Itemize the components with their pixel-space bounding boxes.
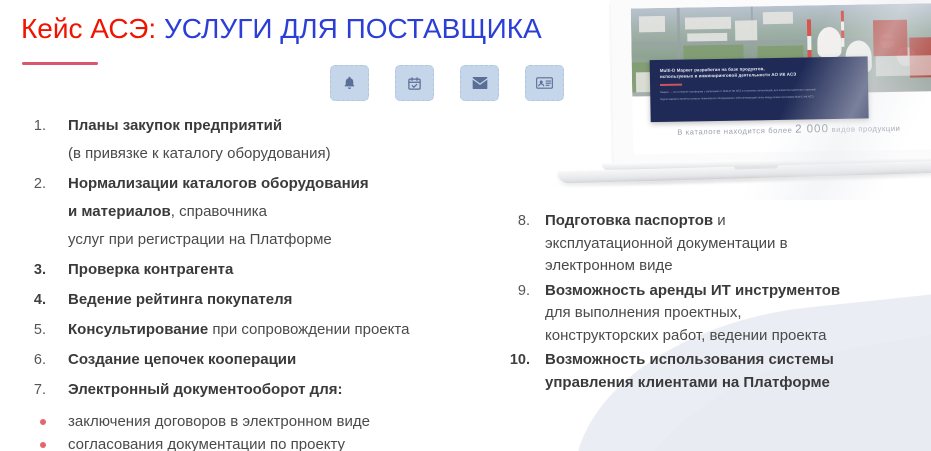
catalog-suffix: видов продукции [829, 124, 901, 134]
list-item-line: конструкторских работ, ведении проекта [545, 325, 840, 348]
text-normal: для выполнения проектных, [545, 304, 742, 321]
text-strong: Консультирование [68, 321, 208, 338]
list-item-line: и материалов, справочника [68, 198, 369, 226]
envelope-icon-button[interactable] [460, 65, 499, 101]
list-item: 2.Нормализации каталогов оборудованияи м… [0, 170, 500, 254]
list-item-number: 3. [0, 256, 46, 284]
title-underline-rule [22, 62, 98, 65]
list-item-body: Возможность аренды ИТ инструментовдля вы… [530, 280, 840, 348]
laptop-screen: Multi-D Маркет разработан на базе продук… [631, 3, 931, 154]
services-list-right: 8.Подготовка паспортов иэксплуатационной… [470, 210, 890, 396]
list-item-line: Возможность использования системы [545, 349, 834, 372]
icon-row [330, 65, 564, 101]
list-item-body: Возможность использования системыуправле… [530, 349, 834, 394]
text-normal: электронном виде [545, 257, 673, 274]
list-item: 8.Подготовка паспортов иэксплуатационной… [470, 210, 890, 278]
screen-overlay-card: Multi-D Маркет разработан на базе продук… [650, 56, 869, 122]
list-item-number: 10. [470, 349, 530, 372]
list-item: 10.Возможность использования системыупра… [470, 349, 890, 394]
catalog-count-line: В каталоге находится более 2 000 видов п… [633, 121, 931, 138]
list-item-number: 6. [0, 346, 46, 374]
list-item-line: Возможность аренды ИТ инструментов [545, 280, 840, 303]
overlay-rule [660, 84, 682, 86]
list-item-number: 2. [0, 170, 46, 198]
text-normal: (в привязке к каталогу оборудования) [68, 145, 331, 162]
list-item-body: Нормализации каталогов оборудованияи мат… [46, 170, 369, 254]
bullet-item: заключения договоров в электронном виде [0, 410, 500, 433]
list-item-body: Ведение рейтинга покупателя [46, 286, 292, 314]
list-item-line: услуг при регистрации на Платформе [68, 226, 369, 254]
laptop-mockup: Multi-D Маркет разработан на базе продук… [604, 0, 931, 194]
text-strong: Возможность аренды ИТ инструментов [545, 282, 840, 299]
list-item-line: Нормализации каталогов оборудования [68, 170, 369, 198]
list-item-body: Проверка контрагента [46, 256, 233, 284]
envelope-icon [472, 77, 488, 89]
id-card-icon [536, 77, 553, 89]
overlay-paragraph-1: Маркет — это интернет-платформа с сервис… [660, 87, 858, 94]
list-item-number: 1. [0, 112, 46, 140]
list-item-number: 4. [0, 286, 46, 314]
page-title-blue: УСЛУГИ ДЛЯ ПОСТАВЩИКА [156, 13, 542, 44]
list-item-line: эксплуатационной документации в [545, 233, 788, 256]
text-normal: услуг при регистрации на Платформе [68, 231, 332, 248]
bullet-body: согласования документации по проекту [46, 433, 345, 451]
calendar-check-icon-button[interactable] [395, 65, 434, 101]
bullet-dot-icon [0, 433, 46, 451]
catalog-prefix: В каталоге находится более [677, 126, 795, 137]
list-item-body: Консультирование при сопровождении проек… [46, 316, 409, 344]
text-strong: и материалов [68, 203, 171, 220]
slide: Кейс АСЭ: УСЛУГИ ДЛЯ ПОСТАВЩИКА [0, 0, 931, 451]
list-item-number: 5. [0, 316, 46, 344]
laptop-lid: Multi-D Маркет разработан на базе продук… [611, 0, 931, 169]
text-normal: , справочника [171, 203, 267, 220]
text-normal: при сопровождении проекта [208, 321, 409, 338]
list-item-body: Подготовка паспортов иэксплуатационной д… [530, 210, 788, 278]
services-list-left: 1.Планы закупок предприятий(в привязке к… [0, 112, 500, 451]
list-item-line: управления клиентами на Платформе [545, 372, 834, 395]
text-strong: Электронный документооборот для: [68, 381, 342, 398]
list-item: 7.Электронный документооборот для: [0, 376, 500, 404]
list-item-body: Создание цепочек кооперации [46, 346, 296, 374]
text-strong: Создание цепочек кооперации [68, 351, 296, 368]
bullet-dot-icon [0, 410, 46, 433]
bullet-text: согласования документации по проекту [68, 433, 345, 451]
list-item-line: (в привязке к каталогу оборудования) [68, 140, 331, 168]
text-strong: Нормализации каталогов оборудования [68, 175, 369, 192]
bullet-body: заключения договоров в электронном виде [46, 410, 370, 433]
list-item: 9.Возможность аренды ИТ инструментовдля … [470, 280, 890, 348]
list-item-body: Планы закупок предприятий(в привязке к к… [46, 112, 331, 168]
bell-icon-button[interactable] [330, 65, 369, 101]
catalog-count: 2 000 [795, 123, 829, 136]
page-title-red: Кейс АСЭ: [21, 13, 156, 44]
list-item-line: Ведение рейтинга покупателя [68, 286, 292, 314]
list-item-number: 8. [470, 210, 530, 233]
list-item-line: Проверка контрагента [68, 256, 233, 284]
list-item-line: электронном виде [545, 255, 788, 278]
list-item-line: Подготовка паспортов и [545, 210, 788, 233]
list-item-number: 7. [0, 376, 46, 404]
list-item: 1.Планы закупок предприятий(в привязке к… [0, 112, 500, 168]
list-item: 6.Создание цепочек кооперации [0, 346, 500, 374]
id-card-icon-button[interactable] [525, 65, 564, 101]
list-item-line: для выполнения проектных, [545, 302, 840, 325]
text-normal: конструкторских работ, ведении проекта [545, 327, 827, 344]
calendar-check-icon [407, 76, 422, 91]
text-normal: и [713, 212, 726, 229]
text-strong: Планы закупок предприятий [68, 117, 282, 134]
bell-icon [342, 75, 357, 91]
list-item-line: Консультирование при сопровождении проек… [68, 316, 409, 344]
bullet-text: заключения договоров в электронном виде [68, 410, 370, 433]
text-normal: эксплуатационной документации в [545, 235, 788, 252]
page-title: Кейс АСЭ: УСЛУГИ ДЛЯ ПОСТАВЩИКА [21, 12, 542, 46]
list-item-number: 9. [470, 280, 530, 303]
bullet-item: согласования документации по проекту [0, 433, 500, 451]
text-strong: Подготовка паспортов [545, 212, 713, 229]
overlay-paragraph-2: Ядром маркета является каталог инженерно… [660, 94, 858, 101]
text-strong: Ведение рейтинга покупателя [68, 291, 292, 308]
list-item: 3.Проверка контрагента [0, 256, 500, 284]
text-strong: Возможность использования системы [545, 351, 834, 368]
list-item-line: Планы закупок предприятий [68, 112, 331, 140]
list-item: 4.Ведение рейтинга покупателя [0, 286, 500, 314]
list-item-line: Электронный документооборот для: [68, 376, 342, 404]
list-item-line: Создание цепочек кооперации [68, 346, 296, 374]
text-strong: управления клиентами на Платформе [545, 374, 830, 391]
list-item-body: Электронный документооборот для: [46, 376, 342, 404]
text-strong: Проверка контрагента [68, 261, 233, 278]
list-item: 5.Консультирование при сопровождении про… [0, 316, 500, 344]
